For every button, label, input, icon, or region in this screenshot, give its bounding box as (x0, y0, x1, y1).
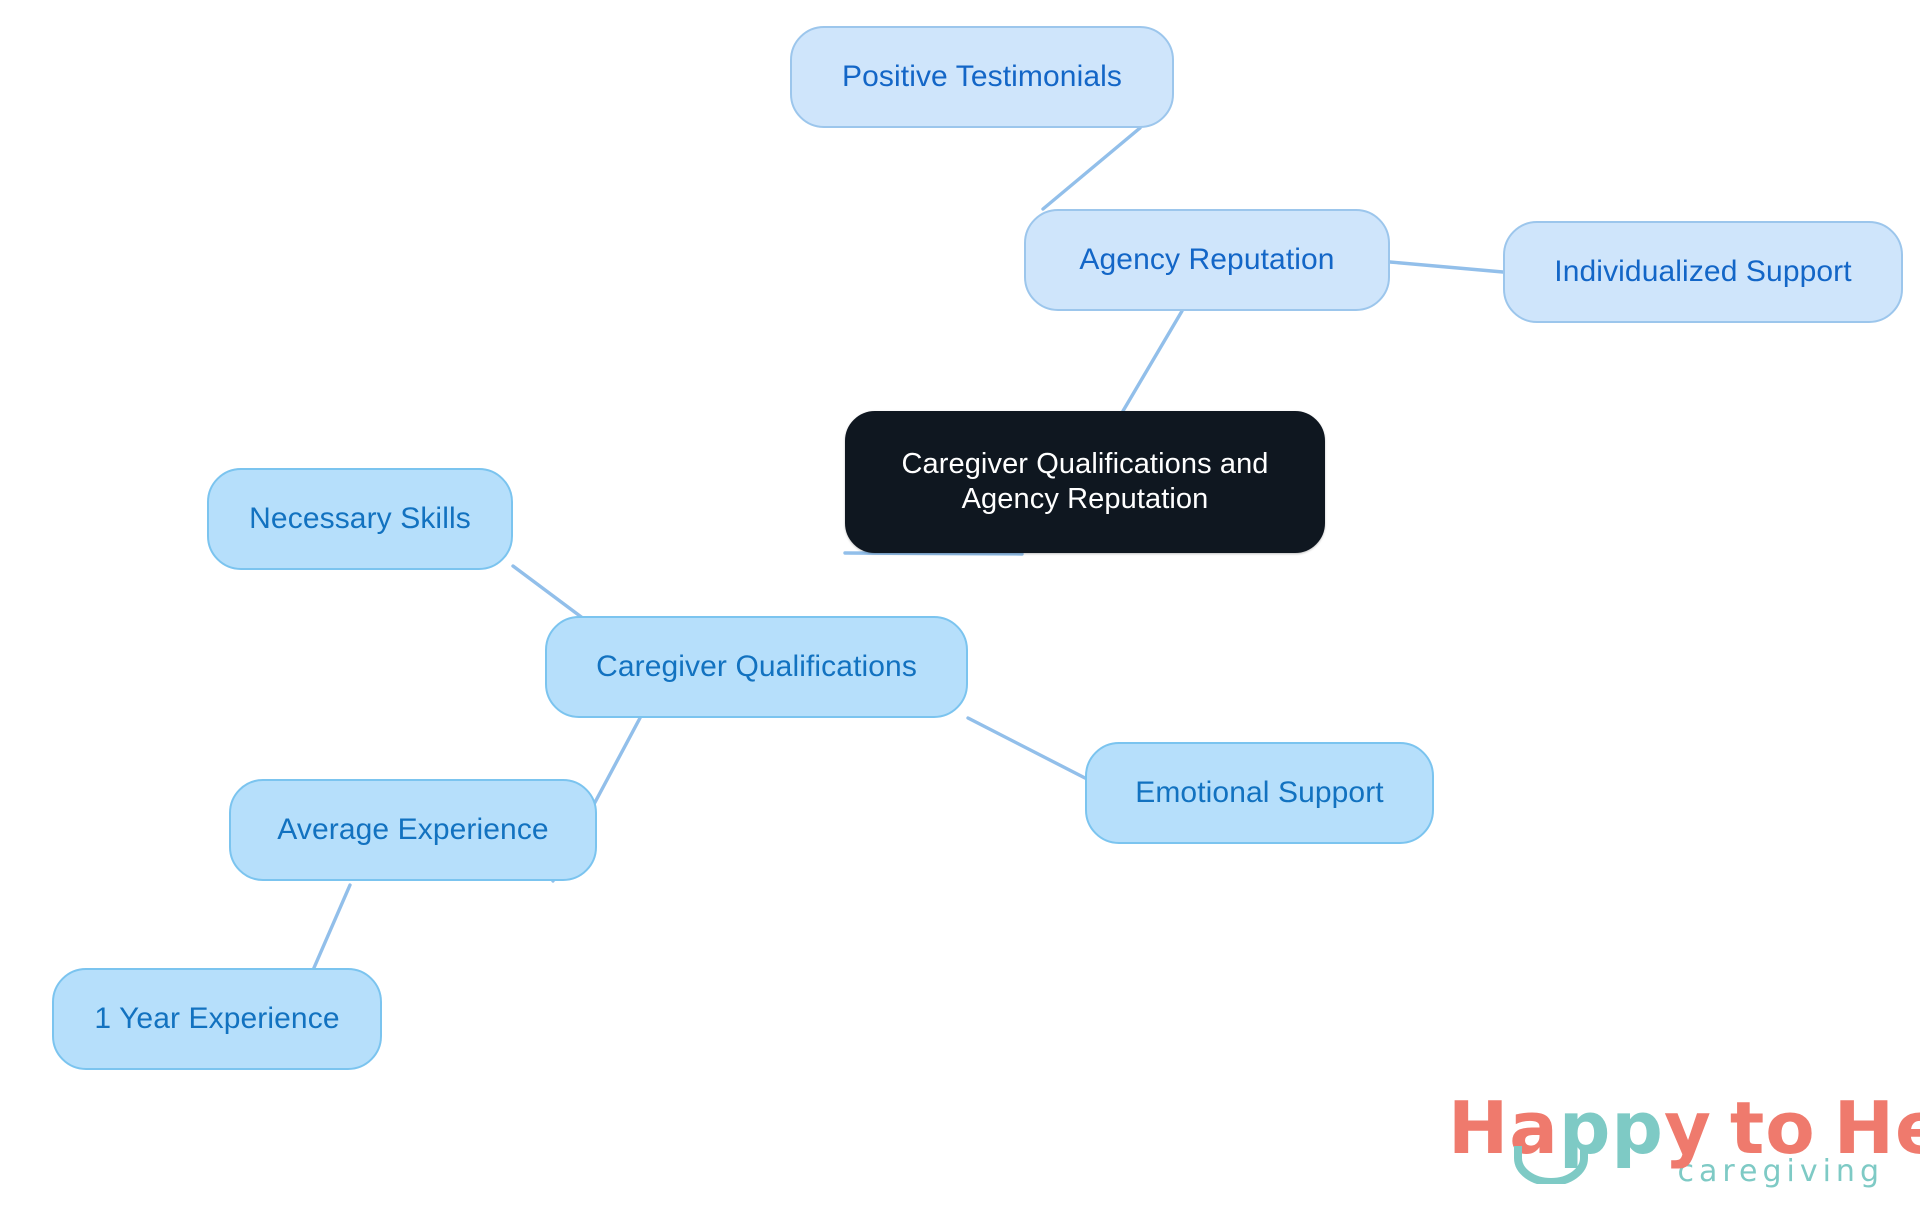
node-one-year-experience-label: 1 Year Experience (94, 1001, 339, 1038)
edge-root-to-qualifications (845, 553, 1022, 554)
node-emotional-support-label: Emotional Support (1135, 775, 1384, 812)
edge-root-to-agency (1123, 311, 1182, 411)
edge-agency-to-individualized (1390, 262, 1503, 272)
edge-qualifications-to-emotional (968, 718, 1085, 778)
node-necessary-skills-label: Necessary Skills (249, 501, 471, 538)
logo-letter-y: y (1664, 1086, 1712, 1170)
node-average-experience-label: Average Experience (277, 812, 548, 849)
node-agency-reputation-label: Agency Reputation (1079, 242, 1334, 279)
brand-logo: HappytoHelp caregiving (1448, 1092, 1888, 1189)
node-one-year-experience[interactable]: 1 Year Experience (52, 968, 382, 1070)
logo-word-to: to (1730, 1086, 1816, 1170)
smile-arc-icon (1514, 1144, 1588, 1184)
node-individualized-support[interactable]: Individualized Support (1503, 221, 1903, 323)
node-positive-testimonials[interactable]: Positive Testimonials (790, 26, 1174, 128)
node-root[interactable]: Caregiver Qualifications and Agency Repu… (845, 411, 1325, 553)
logo-word-help: Help (1834, 1086, 1920, 1170)
node-emotional-support[interactable]: Emotional Support (1085, 742, 1434, 844)
node-necessary-skills[interactable]: Necessary Skills (207, 468, 513, 570)
node-caregiver-qualifications-label: Caregiver Qualifications (596, 649, 917, 686)
logo-letter-h: H (1448, 1086, 1509, 1170)
node-root-label: Caregiver Qualifications and Agency Repu… (901, 447, 1268, 518)
node-positive-testimonials-label: Positive Testimonials (842, 59, 1122, 96)
edge-agency-to-testimonials (1043, 128, 1140, 209)
node-average-experience[interactable]: Average Experience (229, 779, 597, 881)
logo-wordmark: HappytoHelp (1448, 1092, 1888, 1164)
node-individualized-support-label: Individualized Support (1554, 254, 1851, 291)
node-agency-reputation[interactable]: Agency Reputation (1024, 209, 1390, 311)
node-caregiver-qualifications[interactable]: Caregiver Qualifications (545, 616, 968, 718)
mindmap-canvas: Caregiver Qualifications and Agency Repu… (0, 0, 1920, 1215)
